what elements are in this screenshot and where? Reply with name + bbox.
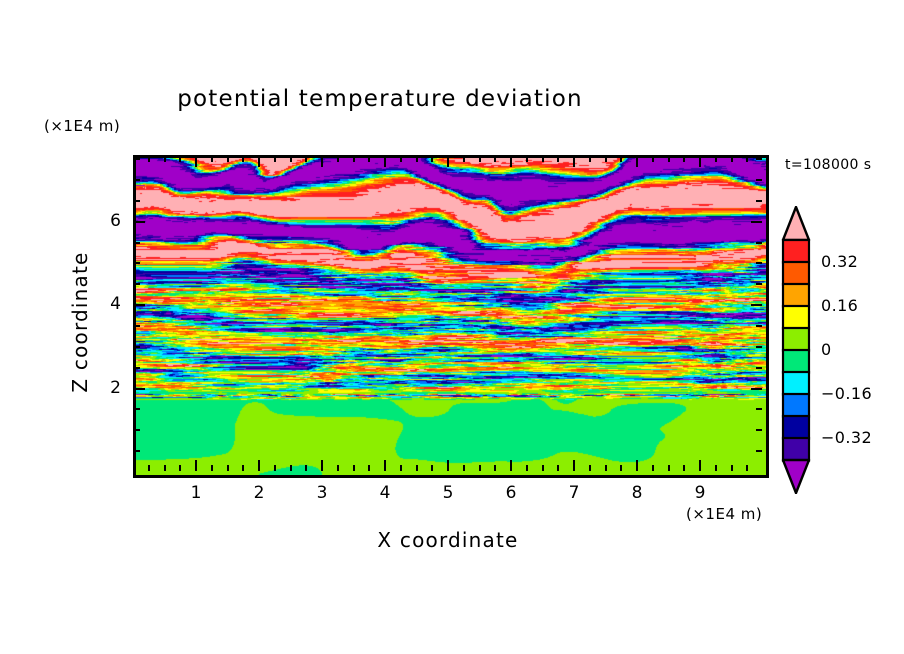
x-tick-label: 4 — [365, 483, 405, 503]
z-axis-tick — [756, 242, 762, 244]
x-tick-label: 7 — [554, 483, 594, 503]
x-axis-tick — [699, 156, 701, 167]
x-axis-tick — [620, 465, 622, 471]
x-axis-tick — [290, 156, 292, 162]
x-axis-tick — [479, 465, 481, 471]
x-axis-tick — [589, 156, 591, 162]
z-tick-label: 4 — [81, 294, 121, 314]
x-axis-tick — [668, 156, 670, 162]
x-tick-label: 9 — [680, 483, 720, 503]
x-axis-tick — [636, 156, 638, 167]
x-axis-tick — [447, 156, 449, 167]
y-axis-title: Z coordinate — [68, 202, 92, 442]
x-axis-tick — [463, 156, 465, 162]
page-title: potential temperature deviation — [0, 86, 760, 112]
x-axis-tick — [227, 465, 229, 471]
x-axis-tick — [510, 156, 512, 167]
z-axis-tick — [134, 158, 140, 160]
colorbar — [781, 206, 811, 494]
x-axis-tick — [337, 465, 339, 471]
x-axis-tick — [179, 156, 181, 162]
z-axis-tick — [756, 346, 762, 348]
z-axis-tick — [134, 242, 140, 244]
x-axis-tick — [195, 460, 197, 471]
x-axis-tick — [384, 460, 386, 471]
z-axis-tick — [756, 450, 762, 452]
x-axis-tick — [557, 156, 559, 162]
z-axis-tick — [756, 158, 762, 160]
x-axis-tick — [321, 156, 323, 167]
z-axis-tick — [134, 429, 140, 431]
x-axis-tick — [337, 156, 339, 162]
z-axis-tick — [751, 388, 762, 390]
x-axis-tick — [353, 465, 355, 471]
z-axis-tick — [751, 221, 762, 223]
x-axis-tick — [179, 465, 181, 471]
x-axis-tick — [746, 465, 748, 471]
x-tick-label: 1 — [176, 483, 216, 503]
x-axis-tick — [731, 465, 733, 471]
x-tick-label: 8 — [617, 483, 657, 503]
x-axis-tick — [652, 465, 654, 471]
x-axis-tick — [431, 156, 433, 162]
x-axis-tick — [368, 465, 370, 471]
x-axis-tick — [479, 156, 481, 162]
x-axis-tick — [746, 156, 748, 162]
x-axis-tick — [463, 465, 465, 471]
x-axis-tick — [195, 156, 197, 167]
x-axis-tick — [164, 156, 166, 162]
x-axis-tick — [699, 460, 701, 471]
x-tick-label: 6 — [491, 483, 531, 503]
x-axis-tick — [416, 465, 418, 471]
z-axis-tick — [134, 388, 145, 390]
z-axis-tick — [134, 346, 140, 348]
x-axis-tick — [368, 156, 370, 162]
x-axis-tick — [164, 465, 166, 471]
x-axis-tick — [652, 156, 654, 162]
z-tick-label: 2 — [81, 378, 121, 398]
z-axis-tick — [756, 367, 762, 369]
z-axis-tick — [756, 283, 762, 285]
x-axis-tick — [731, 156, 733, 162]
z-axis-tick — [134, 325, 140, 327]
x-axis-tick — [242, 156, 244, 162]
z-axis-tick — [134, 221, 145, 223]
x-axis-tick — [573, 156, 575, 167]
z-axis-tick — [134, 367, 140, 369]
z-axis-unit-label: (×1E4 m) — [44, 117, 120, 135]
x-axis-tick — [683, 156, 685, 162]
x-axis-tick — [258, 156, 260, 167]
temperature-deviation-field — [136, 158, 766, 475]
colorbar-tick-label: 0 — [821, 340, 832, 359]
x-tick-label: 5 — [428, 483, 468, 503]
z-axis-tick — [756, 325, 762, 327]
x-axis-tick — [447, 460, 449, 471]
x-axis-tick — [557, 465, 559, 471]
x-axis-tick — [274, 465, 276, 471]
x-axis-tick — [242, 465, 244, 471]
colorbar-tick-label: −0.32 — [821, 428, 872, 447]
x-axis-tick — [715, 465, 717, 471]
x-axis-tick — [148, 156, 150, 162]
x-axis-tick — [321, 460, 323, 471]
z-axis-tick — [134, 450, 140, 452]
x-axis-tick — [542, 465, 544, 471]
z-axis-tick — [134, 179, 140, 181]
x-tick-label: 2 — [239, 483, 279, 503]
z-axis-tick — [756, 200, 762, 202]
x-axis-tick — [305, 156, 307, 162]
x-axis-tick — [400, 465, 402, 471]
x-axis-tick — [605, 465, 607, 471]
x-axis-tick — [416, 156, 418, 162]
time-annotation: t=108000 s — [785, 157, 871, 173]
x-axis-tick — [715, 156, 717, 162]
x-axis-tick — [668, 465, 670, 471]
x-axis-tick — [494, 156, 496, 162]
x-axis-tick — [431, 465, 433, 471]
x-axis-tick — [290, 465, 292, 471]
x-axis-tick — [211, 156, 213, 162]
x-axis-tick — [526, 156, 528, 162]
x-axis-tick — [148, 465, 150, 471]
x-axis-tick — [274, 156, 276, 162]
colorbar-tick-label: 0.16 — [821, 296, 858, 315]
z-axis-tick — [134, 304, 145, 306]
x-axis-tick — [589, 465, 591, 471]
x-axis-tick — [384, 156, 386, 167]
z-axis-tick — [756, 262, 762, 264]
x-axis-unit-label: (×1E4 m) — [686, 505, 762, 523]
x-axis-title: X coordinate — [133, 528, 763, 552]
x-axis-tick — [400, 156, 402, 162]
x-axis-tick — [510, 460, 512, 471]
colorbar-swatches — [781, 206, 811, 494]
x-axis-tick — [636, 460, 638, 471]
z-axis-tick — [751, 304, 762, 306]
x-axis-tick — [573, 460, 575, 471]
z-axis-tick — [134, 283, 140, 285]
x-axis-tick — [526, 465, 528, 471]
z-axis-tick — [756, 179, 762, 181]
contour-plot-area — [133, 155, 769, 478]
x-axis-tick — [258, 460, 260, 471]
x-axis-tick — [605, 156, 607, 162]
z-axis-tick — [756, 408, 762, 410]
x-axis-tick — [353, 156, 355, 162]
x-axis-tick — [494, 465, 496, 471]
x-axis-tick — [227, 156, 229, 162]
z-tick-label: 6 — [81, 211, 121, 231]
z-axis-tick — [134, 408, 140, 410]
z-axis-tick — [134, 200, 140, 202]
colorbar-tick-label: −0.16 — [821, 384, 872, 403]
z-axis-tick — [756, 429, 762, 431]
x-tick-label: 3 — [302, 483, 342, 503]
x-axis-tick — [211, 465, 213, 471]
x-axis-tick — [683, 465, 685, 471]
z-axis-tick — [134, 262, 140, 264]
x-axis-tick — [620, 156, 622, 162]
colorbar-tick-label: 0.32 — [821, 252, 858, 271]
x-axis-tick — [305, 465, 307, 471]
x-axis-tick — [542, 156, 544, 162]
